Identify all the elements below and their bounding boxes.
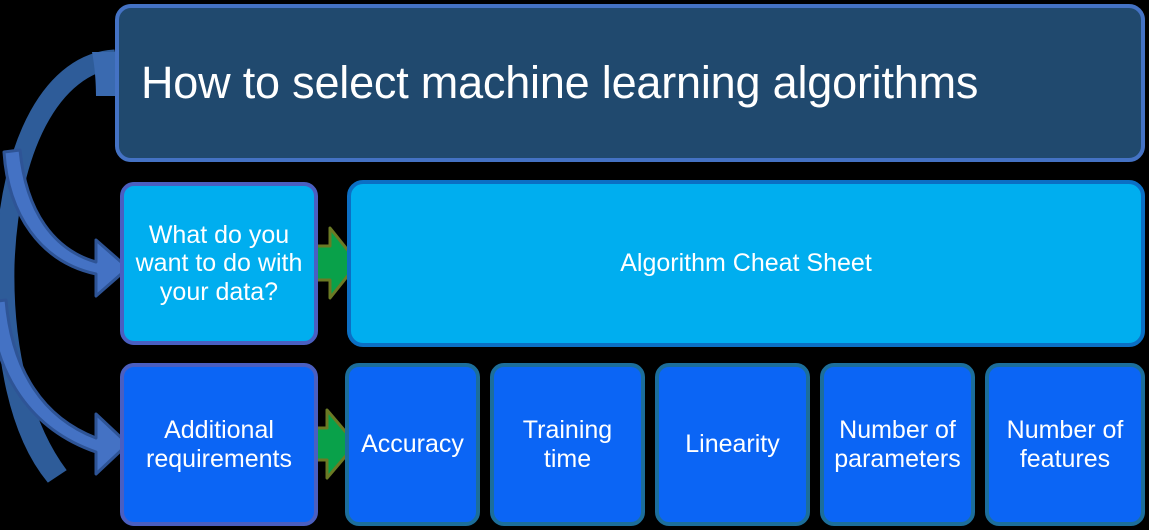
- algorithm-cheat-sheet-box[interactable]: Algorithm Cheat Sheet: [347, 180, 1145, 347]
- accuracy-label: Accuracy: [361, 430, 464, 459]
- title-curved-band-outer: [0, 50, 118, 482]
- diagram-canvas: How to select machine learning algorithm…: [0, 0, 1149, 530]
- additional-requirements-box[interactable]: Additional requirements: [120, 363, 318, 526]
- number-of-features-label: Number of features: [995, 416, 1135, 473]
- accuracy-box[interactable]: Accuracy: [345, 363, 480, 526]
- question-box-label: What do you want to do with your data?: [132, 221, 306, 307]
- linearity-box[interactable]: Linearity: [655, 363, 810, 526]
- number-of-features-box[interactable]: Number of features: [985, 363, 1145, 526]
- title-box: How to select machine learning algorithm…: [115, 4, 1145, 162]
- question-box[interactable]: What do you want to do with your data?: [120, 182, 318, 345]
- page-title: How to select machine learning algorithm…: [141, 57, 978, 108]
- training-time-label: Training time: [500, 416, 635, 473]
- linearity-label: Linearity: [685, 430, 780, 459]
- arrow-to-requirements-box: [0, 300, 128, 474]
- number-of-parameters-label: Number of parameters: [830, 416, 965, 473]
- arrow-to-question-box: [4, 150, 128, 296]
- additional-requirements-label: Additional requirements: [130, 416, 308, 473]
- number-of-parameters-box[interactable]: Number of parameters: [820, 363, 975, 526]
- training-time-box[interactable]: Training time: [490, 363, 645, 526]
- algorithm-cheat-sheet-label: Algorithm Cheat Sheet: [620, 249, 872, 278]
